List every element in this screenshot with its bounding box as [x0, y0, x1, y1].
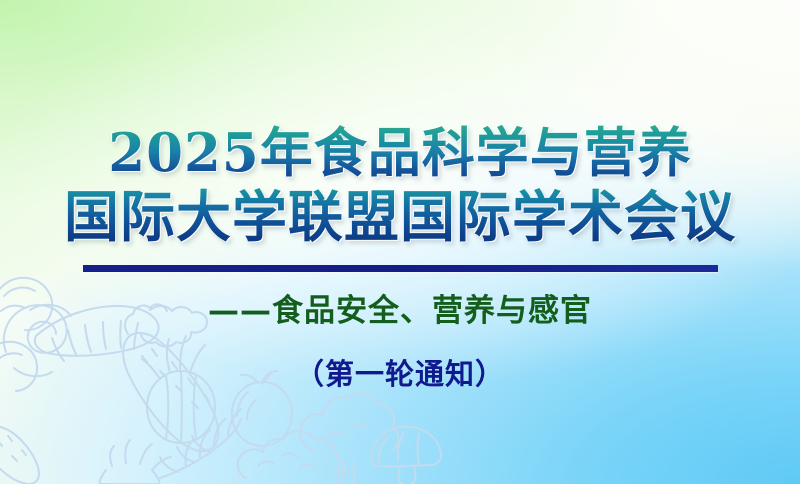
- title-line-2: 国际大学联盟国际学术会议: [0, 185, 800, 248]
- title-line-1: 2025年食品科学与营养: [0, 122, 800, 185]
- conference-poster: 2025年食品科学与营养 国际大学联盟国际学术会议 ——食品安全、营养与感官 （…: [0, 0, 800, 484]
- title-divider: [83, 265, 718, 272]
- title-block: 2025年食品科学与营养 国际大学联盟国际学术会议 ——食品安全、营养与感官 （…: [0, 122, 800, 392]
- poster-subtitle: ——食品安全、营养与感官: [0, 292, 800, 330]
- notice-round-label: （第一轮通知）: [0, 356, 800, 392]
- poster-content: 2025年食品科学与营养 国际大学联盟国际学术会议 ——食品安全、营养与感官 （…: [0, 0, 800, 484]
